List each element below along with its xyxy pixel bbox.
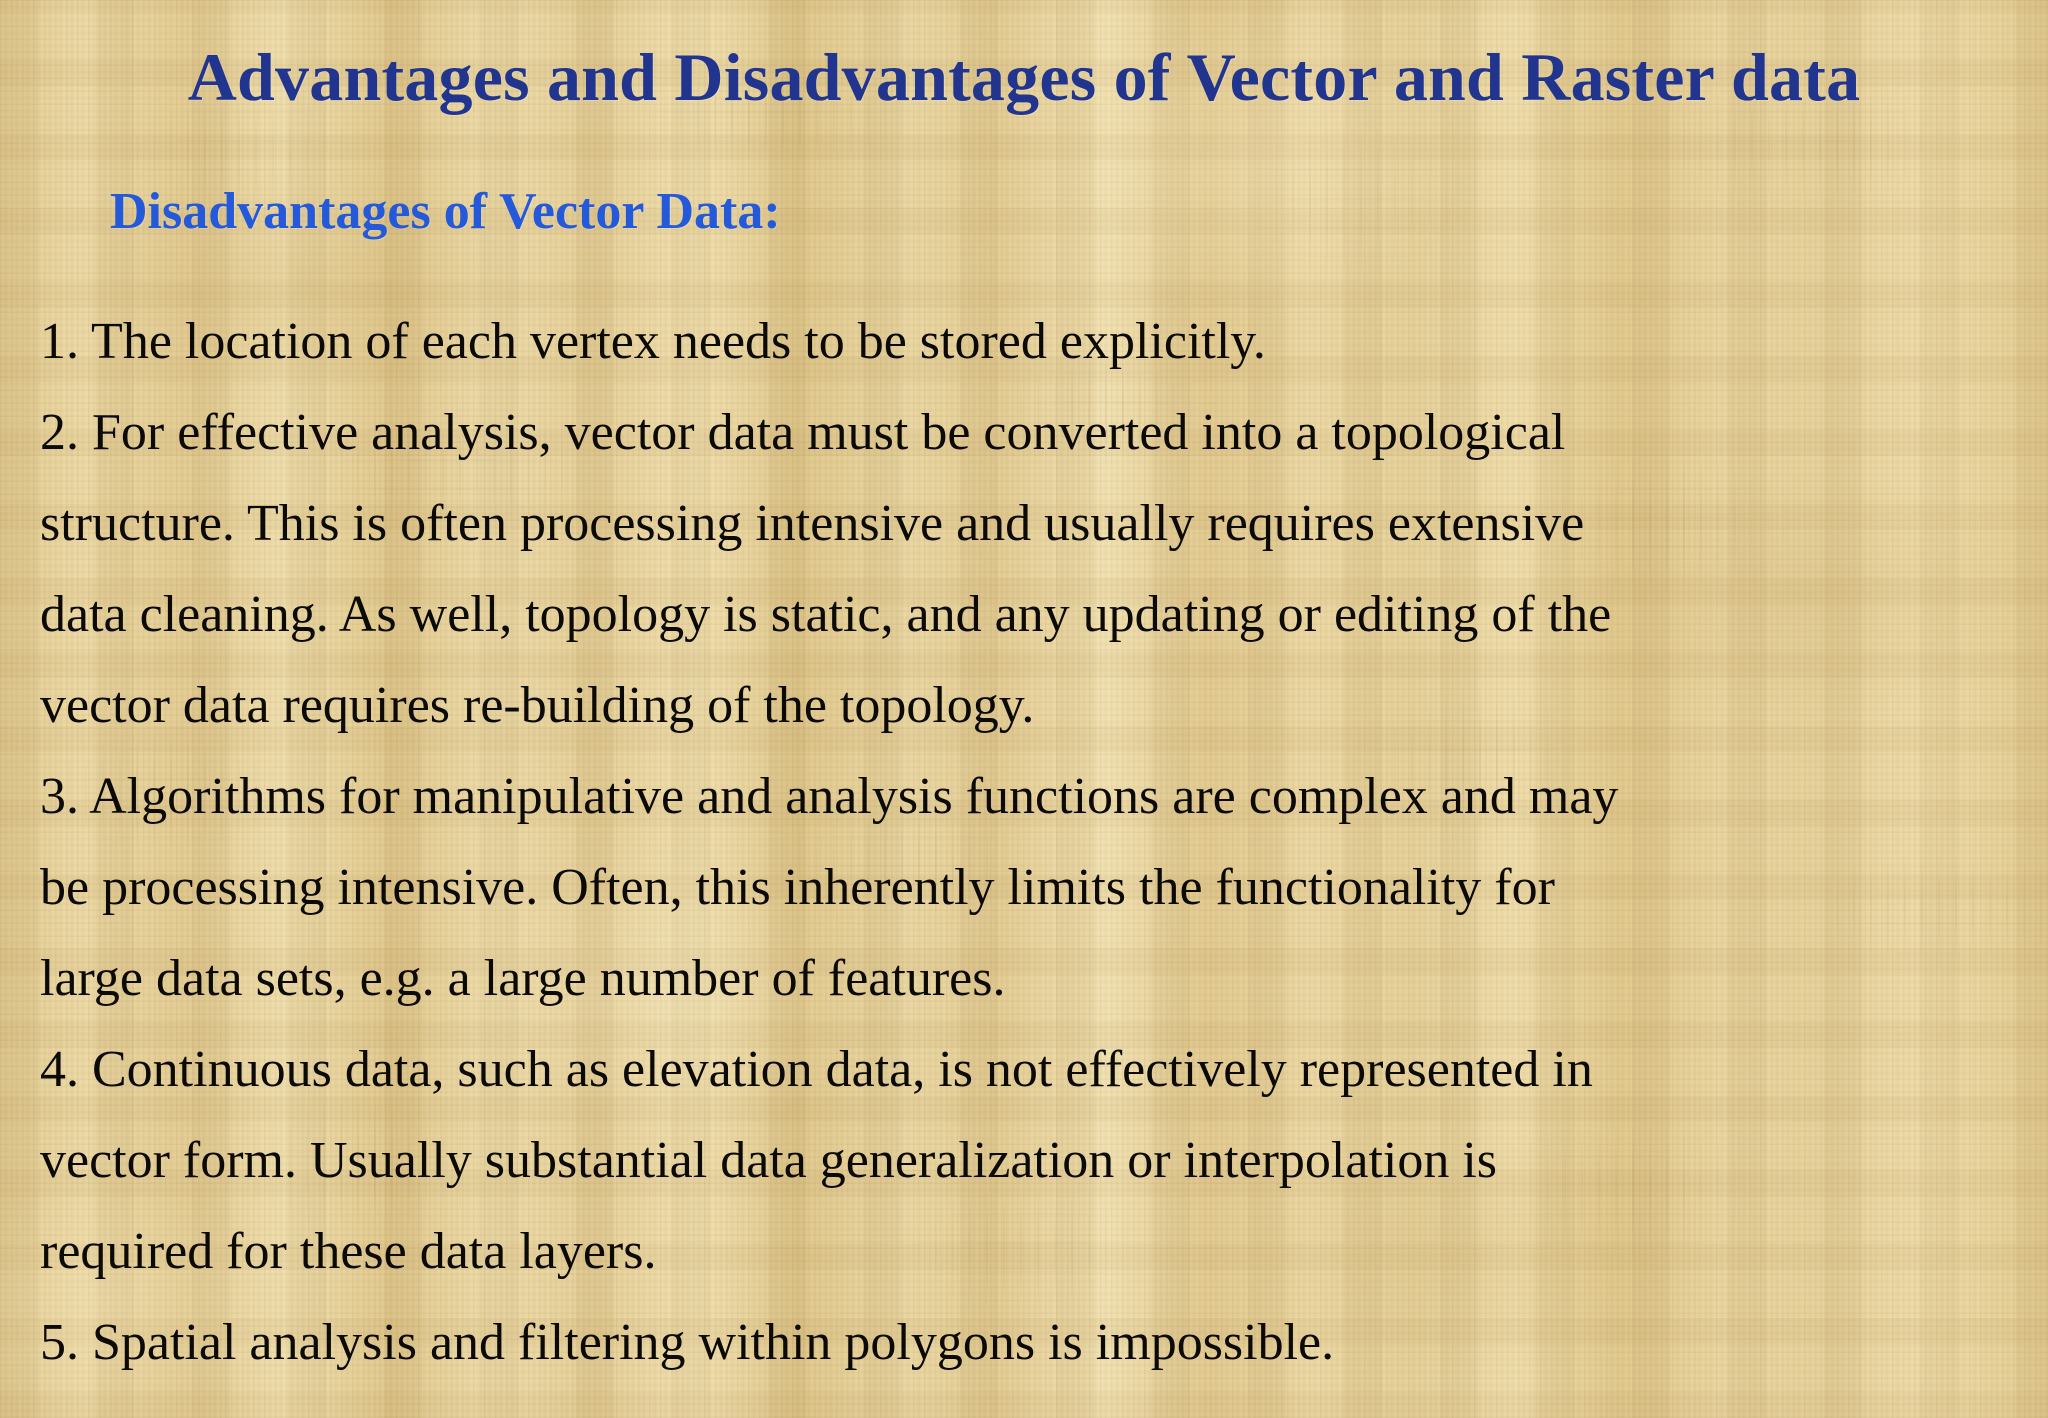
list-item: vector data requires re-building of the … [40,660,2030,751]
list-item: be processing intensive. Often, this inh… [40,842,2030,933]
page-title: Advantages and Disadvantages of Vector a… [0,38,2048,117]
list-item: vector form. Usually substantial data ge… [40,1115,2030,1206]
list-item: 2. For effective analysis, vector data m… [40,387,2030,478]
list-item: 3. Algorithms for manipulative and analy… [40,751,2030,842]
list-item: structure. This is often processing inte… [40,478,2030,569]
list-item: data cleaning. As well, topology is stat… [40,569,2030,660]
section-subtitle: Disadvantages of Vector Data: [110,182,781,241]
list-item: 5. Spatial analysis and filtering within… [40,1297,2030,1388]
disadvantages-list: 1. The location of each vertex needs to … [40,296,2030,1388]
list-item: required for these data layers. [40,1206,2030,1297]
list-item: 4. Continuous data, such as elevation da… [40,1024,2030,1115]
list-item: 1. The location of each vertex needs to … [40,296,2030,387]
presentation-slide: Advantages and Disadvantages of Vector a… [0,0,2048,1418]
list-item: large data sets, e.g. a large number of … [40,933,2030,1024]
